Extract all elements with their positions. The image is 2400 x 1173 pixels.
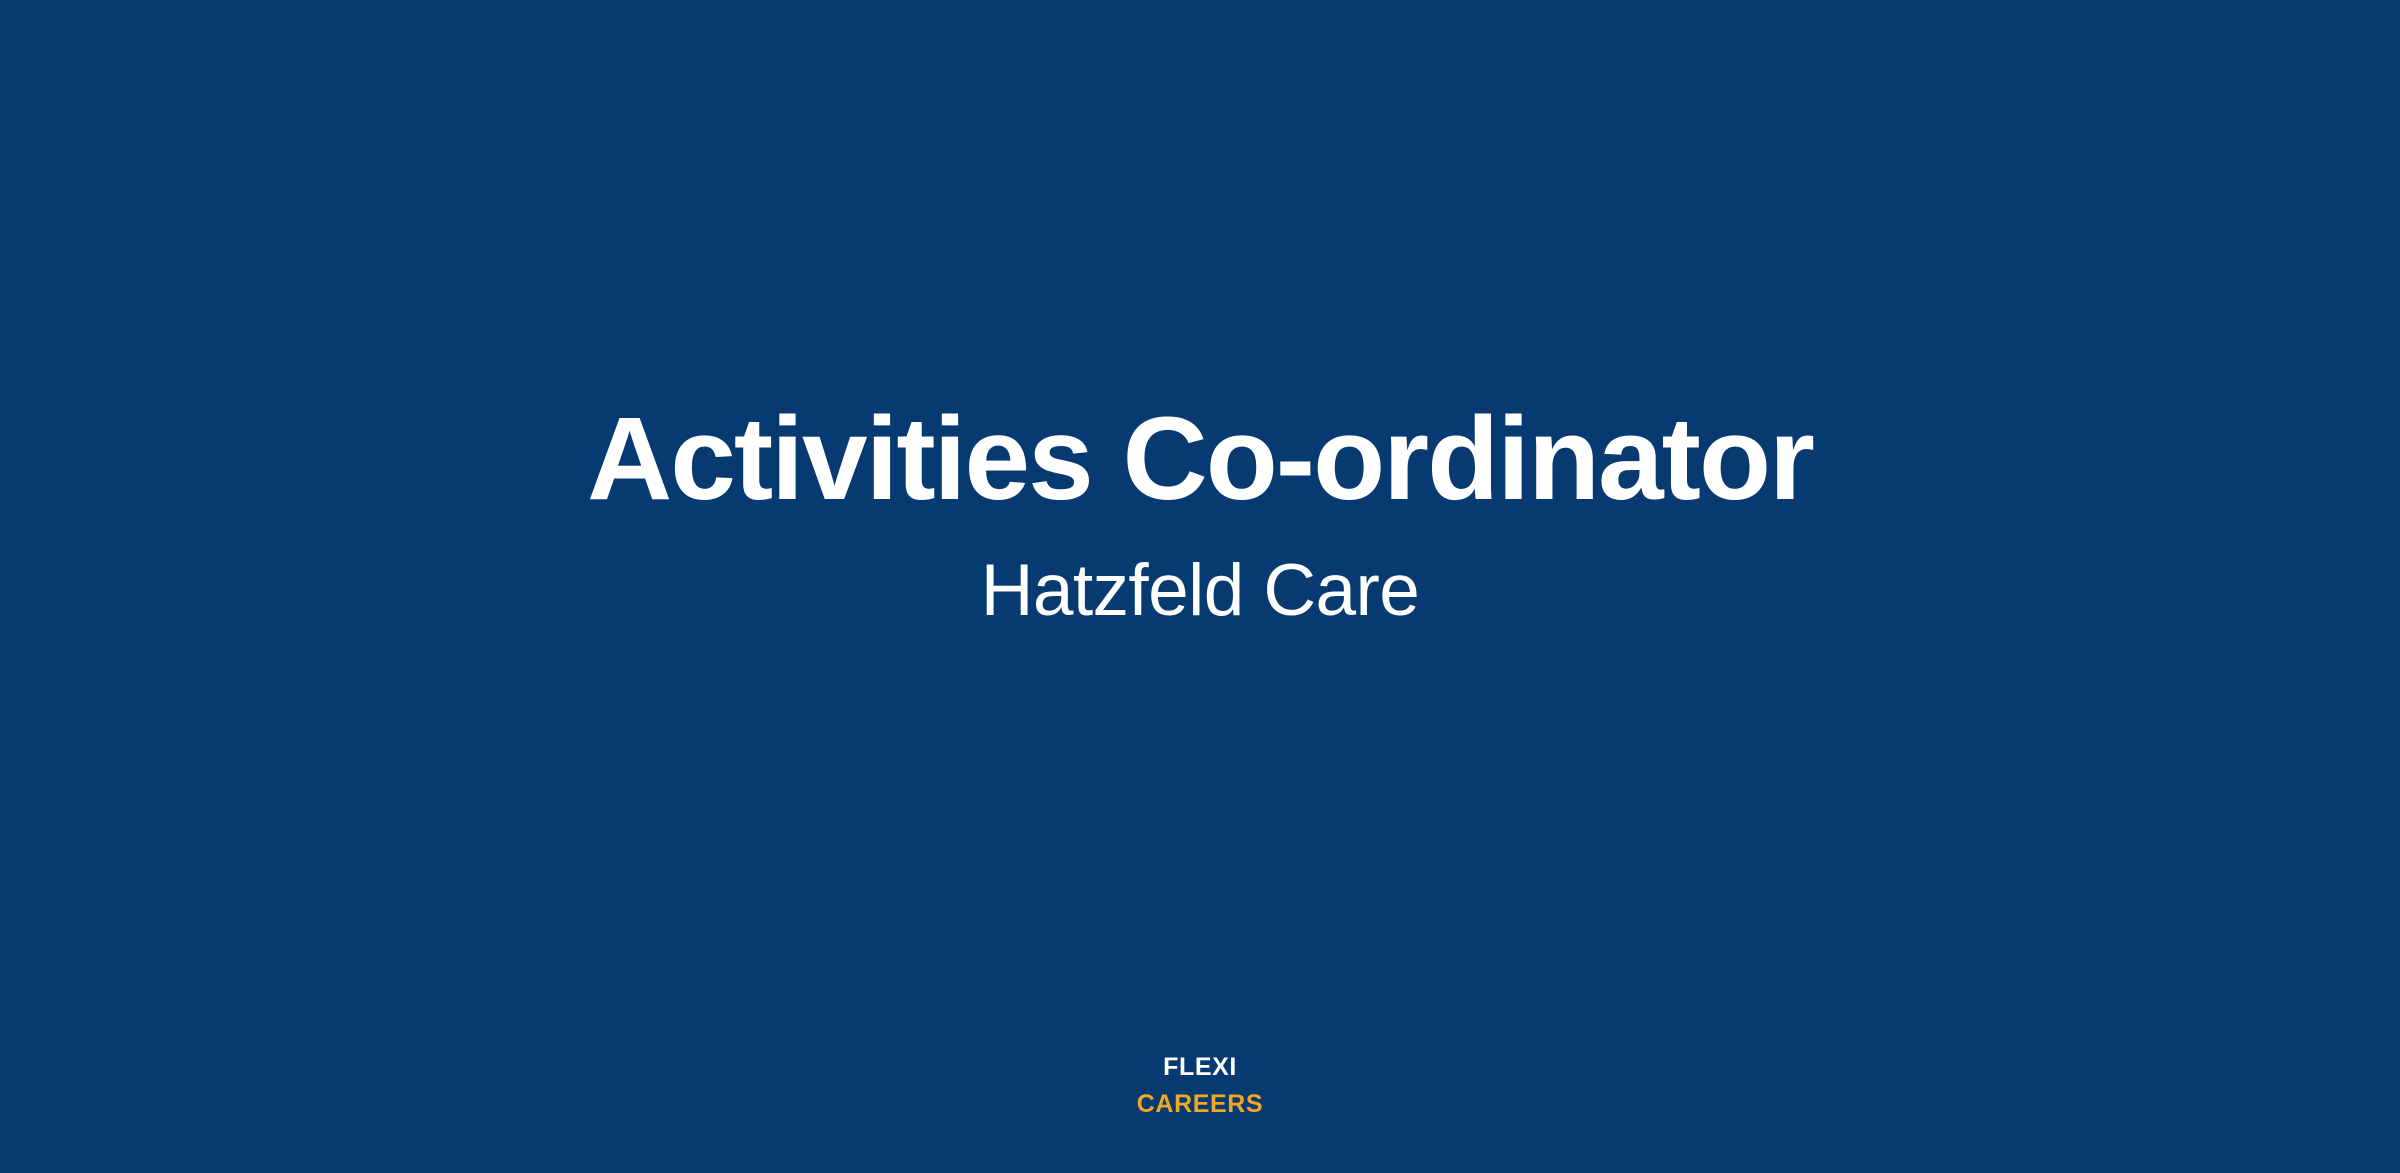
brand-wordmark-careers: CAREERS xyxy=(1137,1092,1263,1117)
employer-subtitle: Hatzfeld Care xyxy=(981,547,1420,635)
brand-wordmark-flexi: FLEXI xyxy=(1163,1055,1237,1080)
page-title: Activities Co-ordinator xyxy=(587,390,1813,529)
title-slide: Activities Co-ordinator Hatzfeld Care FL… xyxy=(0,0,2400,1173)
brand-logo: FLEXI CAREERS xyxy=(0,1055,2400,1117)
hero-text-block: Activities Co-ordinator Hatzfeld Care xyxy=(0,390,2400,635)
